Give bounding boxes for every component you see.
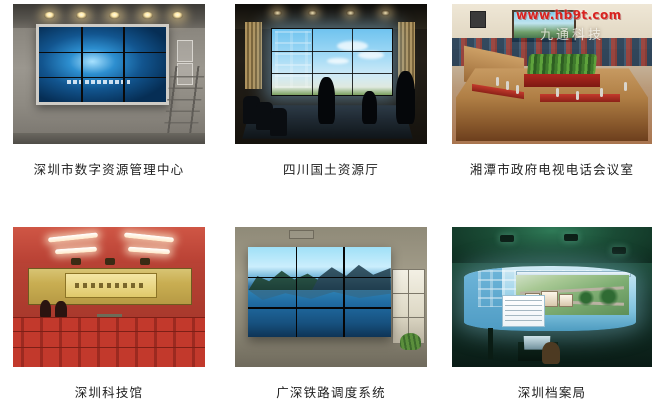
case-4-display xyxy=(28,268,191,305)
desktop-icons xyxy=(275,31,311,88)
case-1-video-wall xyxy=(36,24,169,106)
case-5-video-wall xyxy=(248,247,390,338)
case-gallery: 深圳市数字资源管理中心 xyxy=(0,0,652,408)
case-1-photo xyxy=(13,4,205,144)
case-4-caption: 深圳科技馆 xyxy=(0,385,218,400)
gallery-item-case-6[interactable]: 深圳档案局 xyxy=(443,227,652,400)
gallery-item-case-2[interactable]: 四川国土资源厅 xyxy=(222,4,440,177)
gallery-item-case-1[interactable]: 深圳市数字资源管理中心 xyxy=(0,4,218,177)
case-5-photo xyxy=(235,227,427,367)
case-1-caption: 深圳市数字资源管理中心 xyxy=(0,162,218,177)
document-window xyxy=(502,295,545,328)
case-3-caption: 湘潭市政府电视电话会议室 xyxy=(443,162,652,177)
case-6-curved-screen xyxy=(464,266,636,330)
case-2-caption: 四川国土资源厅 xyxy=(222,162,440,177)
gallery-item-case-4[interactable]: 深圳科技馆 xyxy=(0,227,218,400)
operator xyxy=(542,342,560,364)
case-6-photo xyxy=(452,227,652,367)
case-4-photo xyxy=(13,227,205,367)
gallery-item-case-5[interactable]: 广深铁路调度系统 xyxy=(222,227,440,400)
watermark-url: www.hb9t.com xyxy=(516,8,652,22)
case-3-photo: www.hb9t.com 九通科技 xyxy=(452,4,652,144)
gallery-item-case-3[interactable]: www.hb9t.com 九通科技 湘潭市政府电视电话会议室 xyxy=(443,4,652,177)
case-6-caption: 深圳档案局 xyxy=(443,385,652,400)
case-2-photo xyxy=(235,4,427,144)
watermark-brand: 九通科技 xyxy=(540,24,652,43)
case-5-caption: 广深铁路调度系统 xyxy=(222,385,440,400)
